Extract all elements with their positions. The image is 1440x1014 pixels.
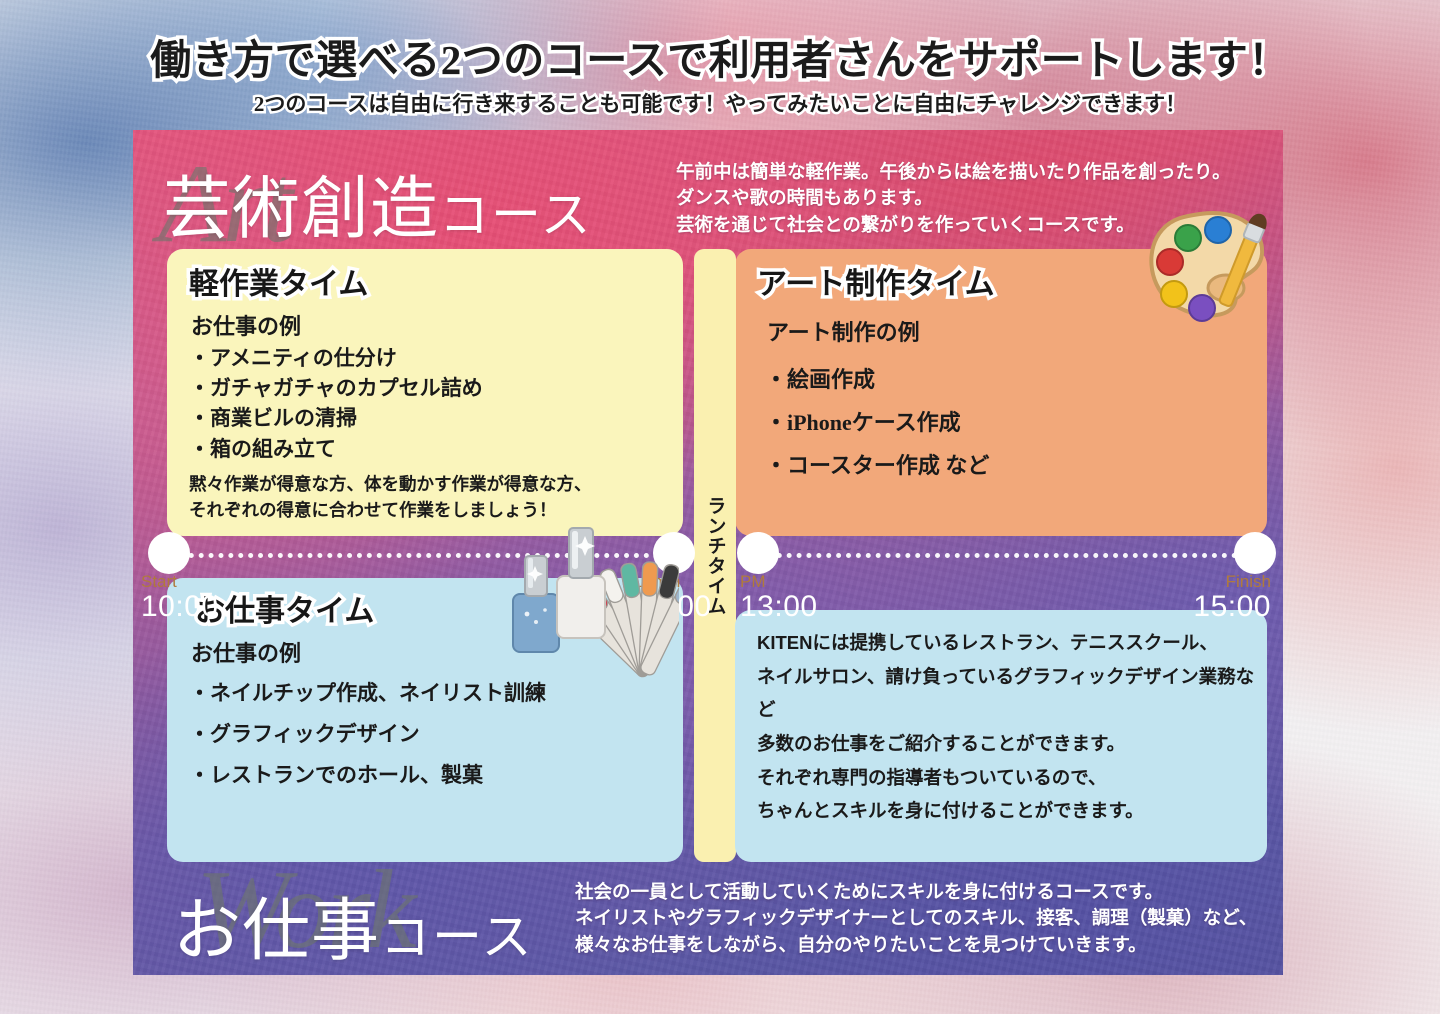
timeline-marker-finish: Finish 15:00 — [1193, 573, 1271, 622]
palette-dot-purple — [1189, 295, 1215, 321]
header: 働き方で選べる2つのコースで利用者さんをサポートします！ 2つのコースは自由に行… — [0, 38, 1440, 118]
timeline-marker-time: 15:00 — [1193, 591, 1271, 623]
page-subtitle: 2つのコースは自由に行き来することも可能です！やってみたいことに自由にチャレンジ… — [0, 88, 1440, 118]
palette-dot-yellow — [1161, 281, 1187, 307]
timeline-marker-name: Start — [141, 573, 219, 591]
poster-canvas: 働き方で選べる2つのコースで利用者さんをサポートします！ 2つのコースは自由に行… — [0, 0, 1440, 1014]
timeline: Start 10:00 Lunch 12:00 PM 13:00 Finish … — [133, 130, 1283, 975]
timeline-dot-finish — [1234, 532, 1276, 574]
timeline-marker-start: Start 10:00 — [141, 573, 219, 622]
timeline-marker-name: Finish — [1193, 573, 1271, 591]
timeline-dot-start — [148, 532, 190, 574]
palette-dot-blue — [1205, 217, 1231, 243]
palette-icon — [1140, 196, 1288, 328]
timeline-line-afternoon — [757, 553, 1257, 558]
timeline-marker-pm: PM 13:00 — [740, 573, 818, 622]
palette-dot-red — [1157, 249, 1183, 275]
timeline-marker-time: 13:00 — [740, 591, 818, 623]
palette-dot-green — [1175, 225, 1201, 251]
timeline-marker-name: PM — [740, 573, 818, 591]
timeline-marker-time: 10:00 — [141, 591, 219, 623]
nail-polish-illustration — [497, 522, 679, 702]
timeline-dot-pm — [737, 532, 779, 574]
page-title: 働き方で選べる2つのコースで利用者さんをサポートします！ — [0, 38, 1440, 84]
